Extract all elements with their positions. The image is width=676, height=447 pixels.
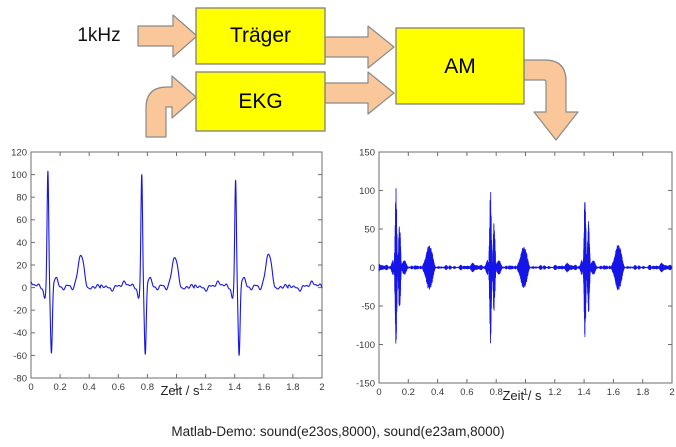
svg-text:-150: -150 bbox=[356, 378, 375, 389]
block-diagram: 1kHz Träger EKG AM bbox=[0, 0, 676, 146]
svg-text:0.2: 0.2 bbox=[402, 387, 415, 398]
caption-text: Matlab-Demo: sound(e23os,8000), sound(e2… bbox=[0, 424, 676, 439]
svg-text:0.4: 0.4 bbox=[431, 387, 444, 398]
svg-text:1.6: 1.6 bbox=[607, 387, 620, 398]
arrow-1khz-to-traeger bbox=[138, 15, 197, 57]
svg-text:1.4: 1.4 bbox=[577, 387, 590, 398]
arrow-am-output bbox=[524, 60, 578, 140]
svg-text:-40: -40 bbox=[13, 328, 27, 339]
block-am[interactable] bbox=[396, 28, 524, 104]
chart-ecg-original-canvas: 00.20.40.60.811.21.41.61.82-80-60-40-200… bbox=[0, 145, 340, 403]
block-diagram-canvas bbox=[0, 0, 676, 146]
svg-text:0: 0 bbox=[370, 263, 375, 274]
svg-text:-100: -100 bbox=[356, 340, 375, 351]
svg-text:1.8: 1.8 bbox=[286, 382, 299, 393]
chart-ecg-am-xlabel: Zeit / s bbox=[477, 388, 567, 403]
slide-root: 1kHz Träger EKG AM 00.20.40.60.811.21.41… bbox=[0, 0, 676, 447]
svg-text:-80: -80 bbox=[13, 373, 27, 384]
arrow-traeger-to-am bbox=[325, 26, 394, 68]
svg-text:150: 150 bbox=[359, 147, 375, 158]
svg-text:-50: -50 bbox=[361, 301, 375, 312]
block-traeger[interactable] bbox=[196, 8, 325, 64]
svg-text:0.4: 0.4 bbox=[83, 382, 96, 393]
block-ekg[interactable] bbox=[196, 72, 325, 131]
arrow-curved-into-ekg bbox=[146, 76, 196, 137]
svg-text:60: 60 bbox=[16, 215, 27, 226]
svg-text:-60: -60 bbox=[13, 351, 27, 362]
svg-text:2: 2 bbox=[319, 382, 324, 393]
svg-text:0.6: 0.6 bbox=[112, 382, 125, 393]
chart-ecg-am-canvas: 00.20.40.60.811.21.41.61.82-150-100-5005… bbox=[340, 145, 676, 403]
svg-text:2: 2 bbox=[669, 387, 674, 398]
svg-text:-20: -20 bbox=[13, 306, 27, 317]
svg-text:0: 0 bbox=[22, 283, 27, 294]
svg-text:50: 50 bbox=[364, 224, 375, 235]
svg-text:0.6: 0.6 bbox=[460, 387, 473, 398]
svg-text:80: 80 bbox=[16, 193, 27, 204]
svg-text:1.6: 1.6 bbox=[257, 382, 270, 393]
svg-text:0: 0 bbox=[376, 387, 381, 398]
svg-text:120: 120 bbox=[11, 147, 27, 158]
svg-text:40: 40 bbox=[16, 238, 27, 249]
arrow-ekg-to-am bbox=[325, 72, 394, 114]
svg-text:20: 20 bbox=[16, 260, 27, 271]
svg-text:100: 100 bbox=[359, 186, 375, 197]
svg-text:0: 0 bbox=[28, 382, 33, 393]
chart-ecg-original: 00.20.40.60.811.21.41.61.82-80-60-40-200… bbox=[0, 145, 340, 403]
svg-text:1.8: 1.8 bbox=[636, 387, 649, 398]
chart-ecg-original-xlabel: Zeit / s bbox=[135, 383, 225, 398]
chart-ecg-am: 00.20.40.60.811.21.41.61.82-150-100-5005… bbox=[340, 145, 676, 403]
svg-text:0.2: 0.2 bbox=[53, 382, 66, 393]
input-frequency-label: 1kHz bbox=[64, 25, 134, 47]
svg-text:1.4: 1.4 bbox=[228, 382, 241, 393]
svg-text:100: 100 bbox=[11, 170, 27, 181]
